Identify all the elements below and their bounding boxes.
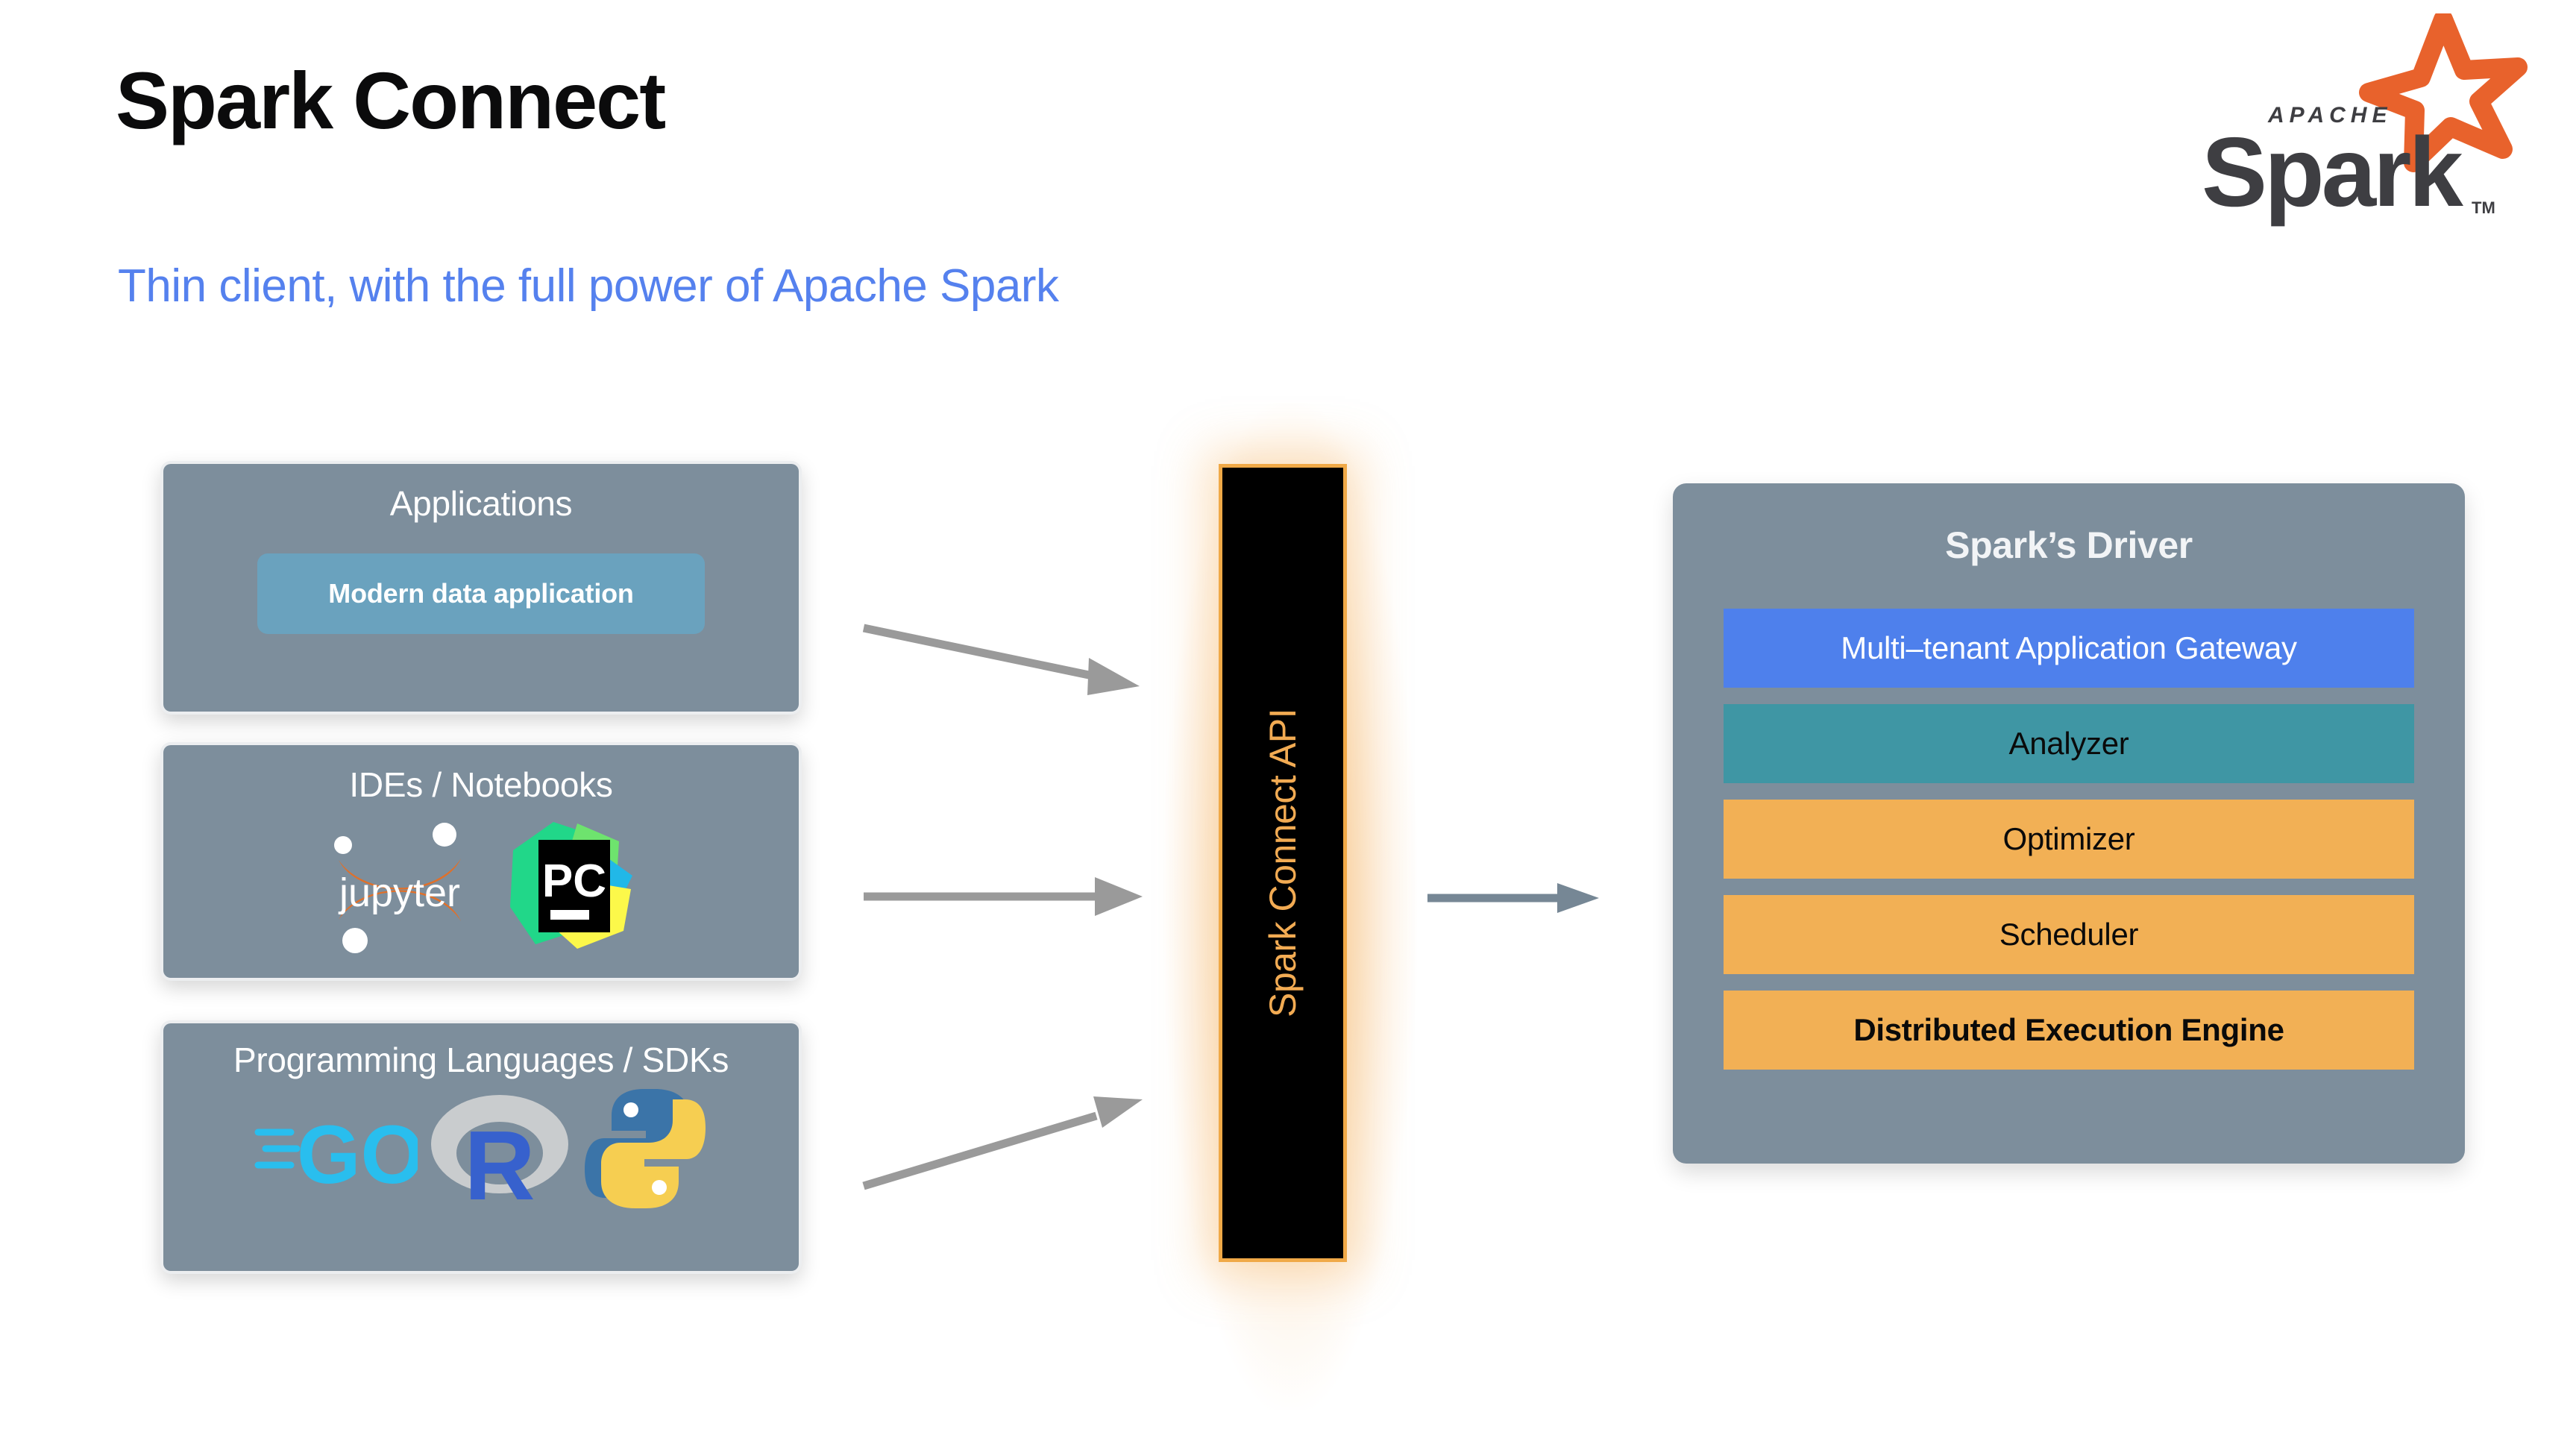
driver-row-optimizer[interactable]: Optimizer — [1724, 800, 2414, 879]
page-title: Spark Connect — [116, 58, 665, 142]
ide-logo-row: jupyter PC — [163, 815, 799, 957]
jupyter-wordmark: jupyter — [338, 870, 460, 915]
spark-connect-api-label: Spark Connect API — [1261, 709, 1304, 1017]
client-card-applications[interactable]: Applications Modern data application — [160, 461, 802, 715]
arrow-applications-to-api — [850, 589, 1208, 798]
pycharm-pc-text: PC — [542, 856, 606, 907]
spark-wordmark-text: Spark — [2202, 117, 2463, 227]
client-card-ides-notebooks[interactable]: IDEs / Notebooks jupyter PC — [160, 742, 802, 981]
r-letter: R — [464, 1111, 535, 1208]
client-card-programming-languages[interactable]: Programming Languages / SDKs GO R — [160, 1020, 802, 1274]
card-title-applications: Applications — [163, 483, 799, 524]
r-logo: R — [425, 1089, 574, 1208]
spark-connect-api-bar[interactable]: Spark Connect API — [1219, 464, 1347, 1262]
driver-row-multi-tenant-application-gateway[interactable]: Multi–tenant Application Gateway — [1724, 609, 2414, 688]
driver-title: Spark’s Driver — [1724, 483, 2414, 567]
driver-row-scheduler[interactable]: Scheduler — [1724, 895, 2414, 974]
apache-spark-logo: APACHE Spark TM — [2158, 13, 2531, 230]
trademark-symbol: TM — [2472, 198, 2495, 217]
pycharm-logo: PC — [506, 819, 640, 953]
card-title-programming-languages: Programming Languages / SDKs — [163, 1040, 799, 1080]
arrow-ides-to-api — [850, 850, 1208, 955]
card-title-ides-notebooks: IDEs / Notebooks — [163, 765, 799, 805]
driver-row-distributed-execution-engine[interactable]: Distributed Execution Engine — [1724, 991, 2414, 1070]
driver-row-analyzer[interactable]: Analyzer — [1724, 704, 2414, 783]
go-logo: GO — [254, 1096, 418, 1201]
arrow-api-to-driver — [1402, 850, 1671, 955]
modern-data-application-pill[interactable]: Modern data application — [257, 553, 705, 634]
language-logo-row: GO R — [163, 1085, 799, 1213]
page-subtitle: Thin client, with the full power of Apac… — [118, 260, 1058, 313]
arrow-languages-to-api — [850, 1044, 1208, 1253]
go-wordmark: GO — [297, 1109, 418, 1201]
spark-driver-panel[interactable]: Spark’s Driver Multi–tenant Application … — [1673, 483, 2465, 1164]
jupyter-logo: jupyter — [322, 815, 479, 957]
python-logo — [582, 1085, 709, 1213]
